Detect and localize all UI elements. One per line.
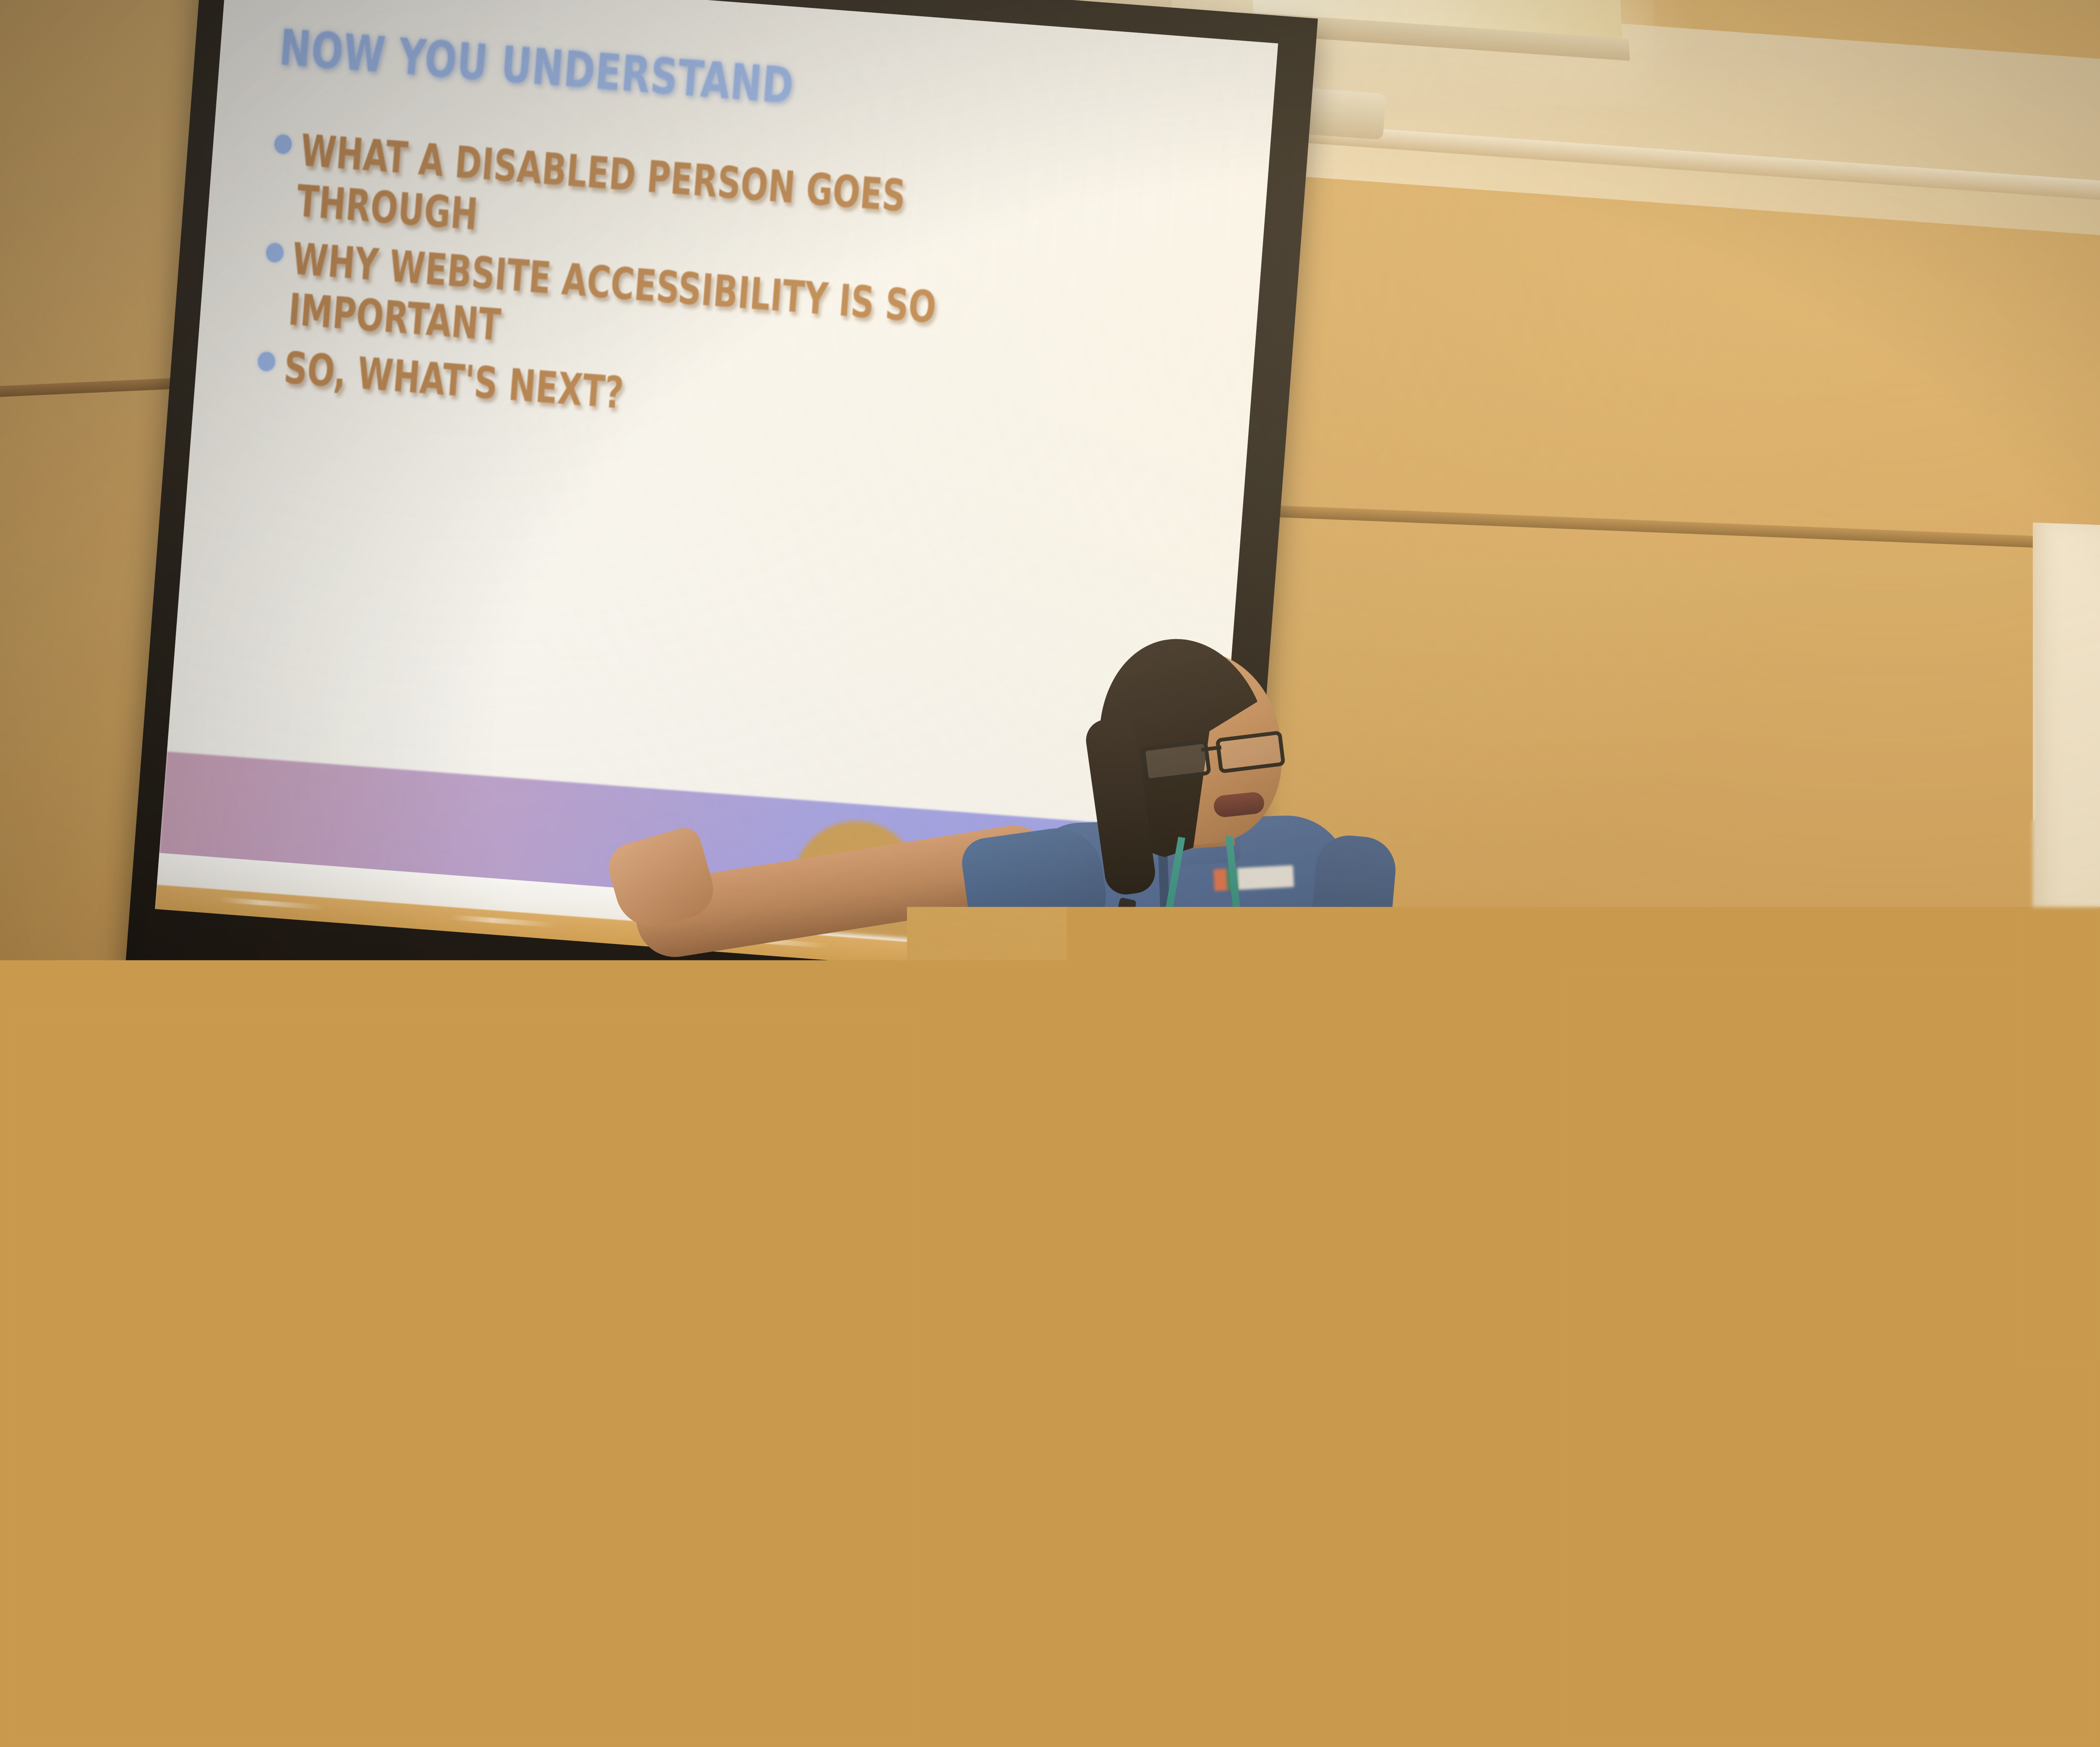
water-bottle-cap (568, 1506, 650, 1535)
audience-foreground-center-hair-highlight (714, 1151, 1033, 1445)
eyeglasses-icon (1715, 1006, 1784, 1031)
presenter-shirt-logo (1213, 865, 1294, 891)
audience-foreground-center-body (556, 1417, 1267, 1747)
wall-outlet (468, 1339, 507, 1395)
slide-bullet-list: WHAT A DISABLED PERSON GOES THROUGH WHY … (244, 122, 1241, 472)
water-bottle (563, 1520, 655, 1747)
slide-title: NOW YOU UNDERSTAND (277, 18, 795, 115)
classroom-photo: NOW YOU UNDERSTAND WHAT A DISABLED PERSO… (0, 0, 2100, 1747)
audience-foreground-left-lap (284, 1511, 522, 1747)
chair-foreground-right (1876, 1550, 2100, 1747)
whiteboard (2033, 522, 2100, 1048)
